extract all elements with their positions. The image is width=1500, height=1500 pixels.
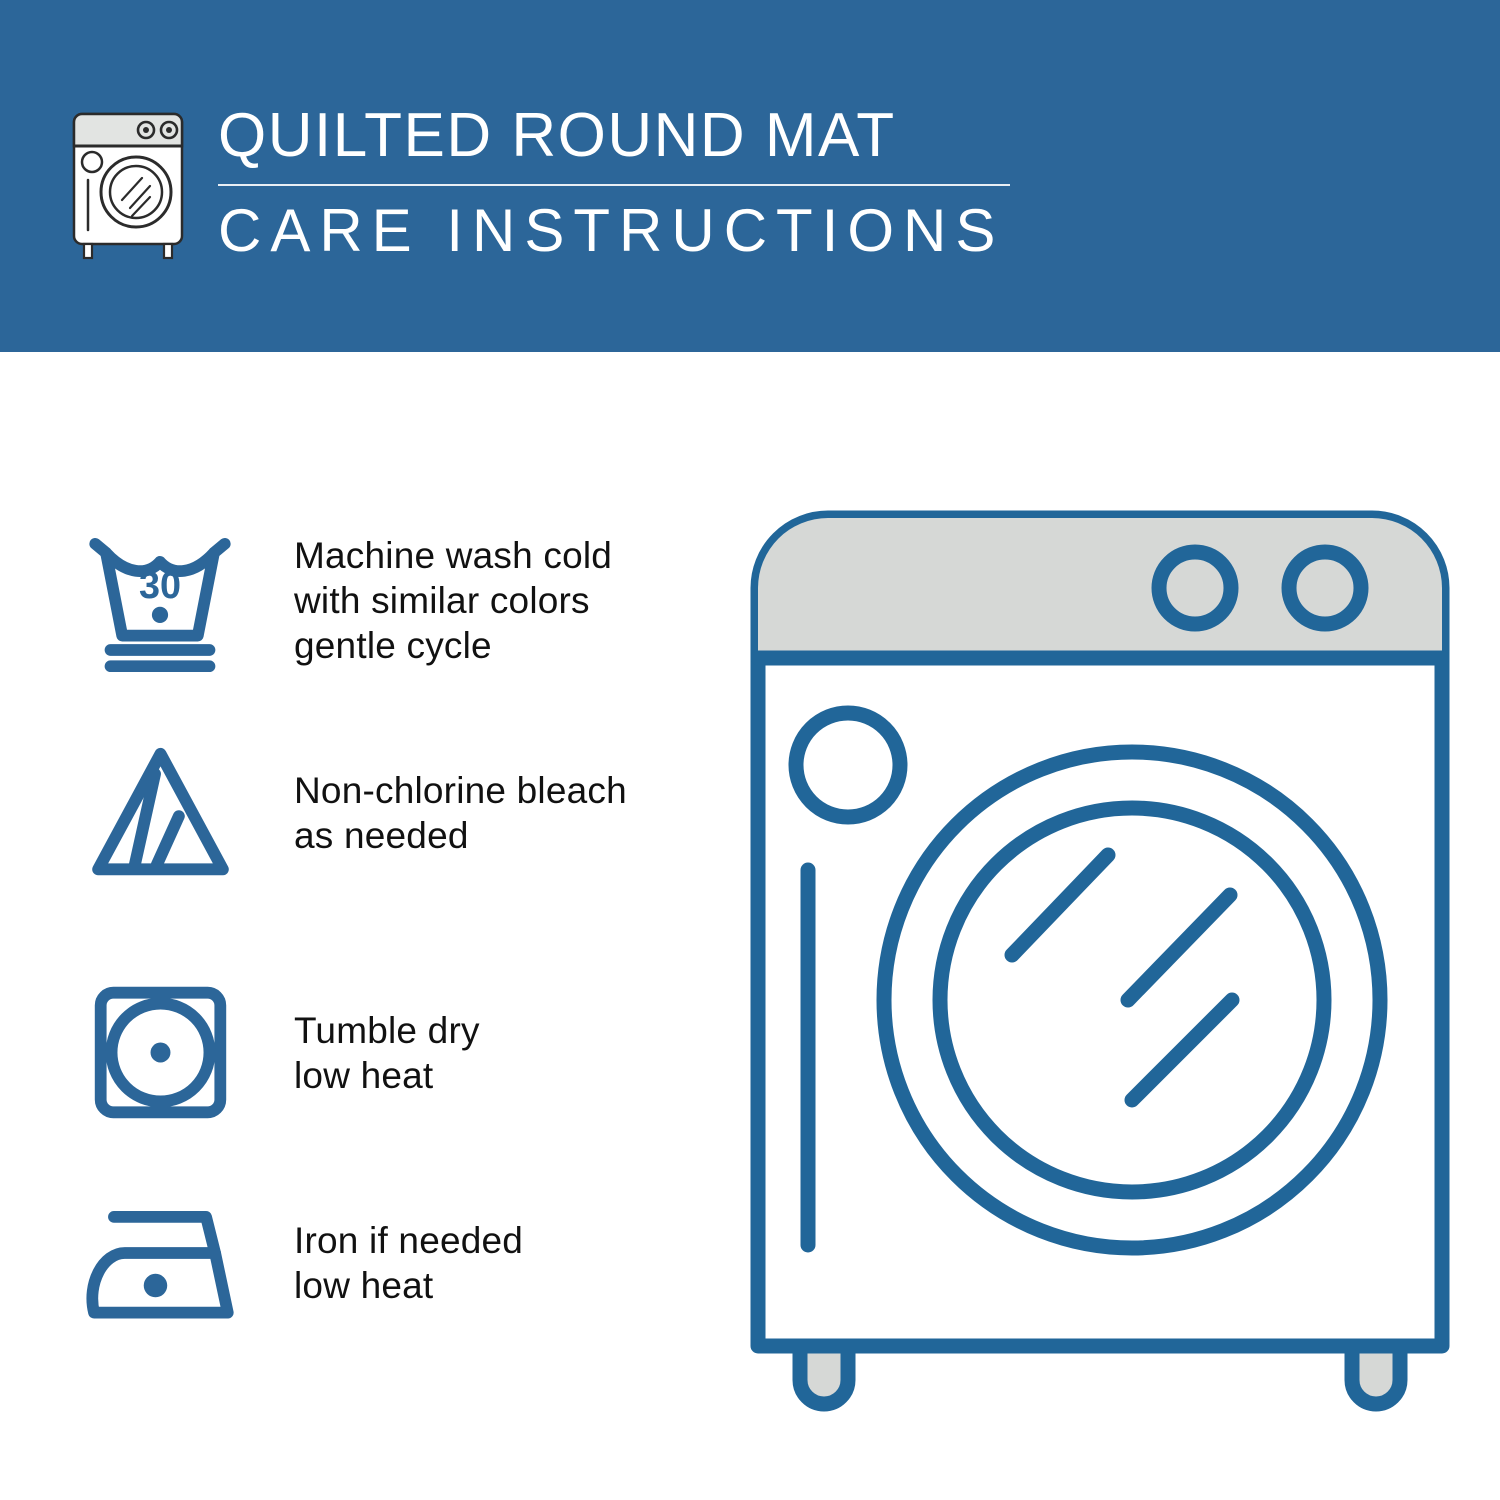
iron-icon (60, 1197, 260, 1328)
wash-tub-30-icon: 30 (60, 524, 260, 677)
care-line: Tumble dry (294, 1008, 480, 1053)
wash-temperature-label: 30 (139, 564, 181, 606)
care-line: with similar colors (294, 578, 612, 623)
care-instructions-page: QUILTED ROUND MAT CARE INSTRUCTIONS 30 (0, 0, 1500, 1500)
washing-machine-icon (66, 104, 190, 264)
care-text-machine-wash: Machine wash cold with similar colors ge… (260, 533, 612, 668)
care-text-tumble-dry: Tumble dry low heat (260, 1008, 480, 1098)
care-line: as needed (294, 813, 627, 858)
care-row-tumble-dry: Tumble dry low heat (60, 965, 720, 1140)
care-line: low heat (294, 1263, 523, 1308)
header-text-block: QUILTED ROUND MAT CARE INSTRUCTIONS (218, 100, 1018, 266)
care-line: low heat (294, 1053, 480, 1098)
washing-machine-illustration (740, 500, 1460, 1430)
care-text-iron: Iron if needed low heat (260, 1218, 523, 1308)
care-row-iron: Iron if needed low heat (60, 1185, 720, 1340)
care-row-bleach: Non-chlorine bleach as needed (60, 730, 720, 895)
care-line: Machine wash cold (294, 533, 612, 578)
header-band: QUILTED ROUND MAT CARE INSTRUCTIONS (0, 0, 1500, 352)
care-row-machine-wash: 30 Machine wash cold with similar colors… (60, 510, 720, 690)
bleach-triangle-icon (60, 739, 260, 886)
care-line: Iron if needed (294, 1218, 523, 1263)
care-text-bleach: Non-chlorine bleach as needed (260, 768, 627, 858)
tumble-dry-icon (60, 980, 260, 1125)
page-title: QUILTED ROUND MAT (218, 100, 1018, 172)
header-divider (218, 184, 1010, 186)
care-line: gentle cycle (294, 623, 612, 668)
page-subtitle: CARE INSTRUCTIONS (218, 196, 1018, 266)
care-line: Non-chlorine bleach (294, 768, 627, 813)
